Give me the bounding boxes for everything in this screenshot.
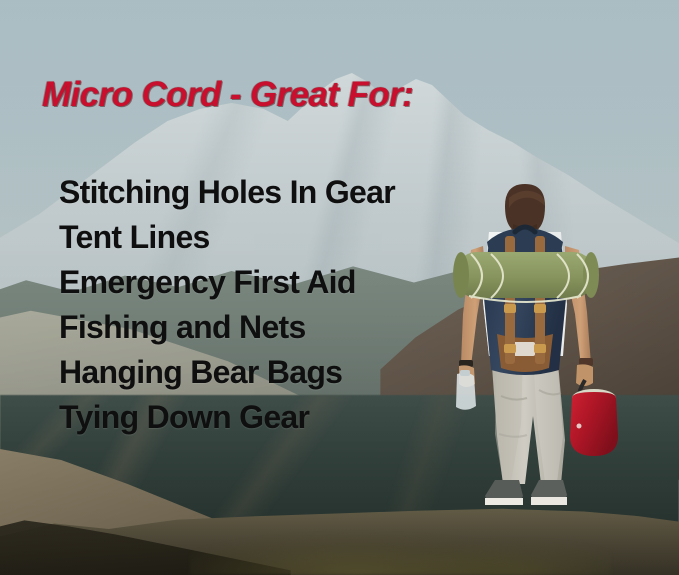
product-poster: Micro Cord - Great For: Stitching Holes … <box>0 0 679 575</box>
red-stuff-sack <box>570 380 618 456</box>
hiker-shoes <box>485 480 567 505</box>
page-title: Micro Cord - Great For: <box>42 77 413 112</box>
list-item: Fishing and Nets <box>59 305 489 350</box>
list-item: Tent Lines <box>59 215 489 260</box>
list-item: Emergency First Aid <box>59 260 489 305</box>
list-item: Stitching Holes In Gear <box>59 170 489 215</box>
uses-list: Stitching Holes In Gear Tent Lines Emerg… <box>59 170 489 440</box>
list-item: Hanging Bear Bags <box>59 350 489 395</box>
list-item: Tying Down Gear <box>59 395 489 440</box>
